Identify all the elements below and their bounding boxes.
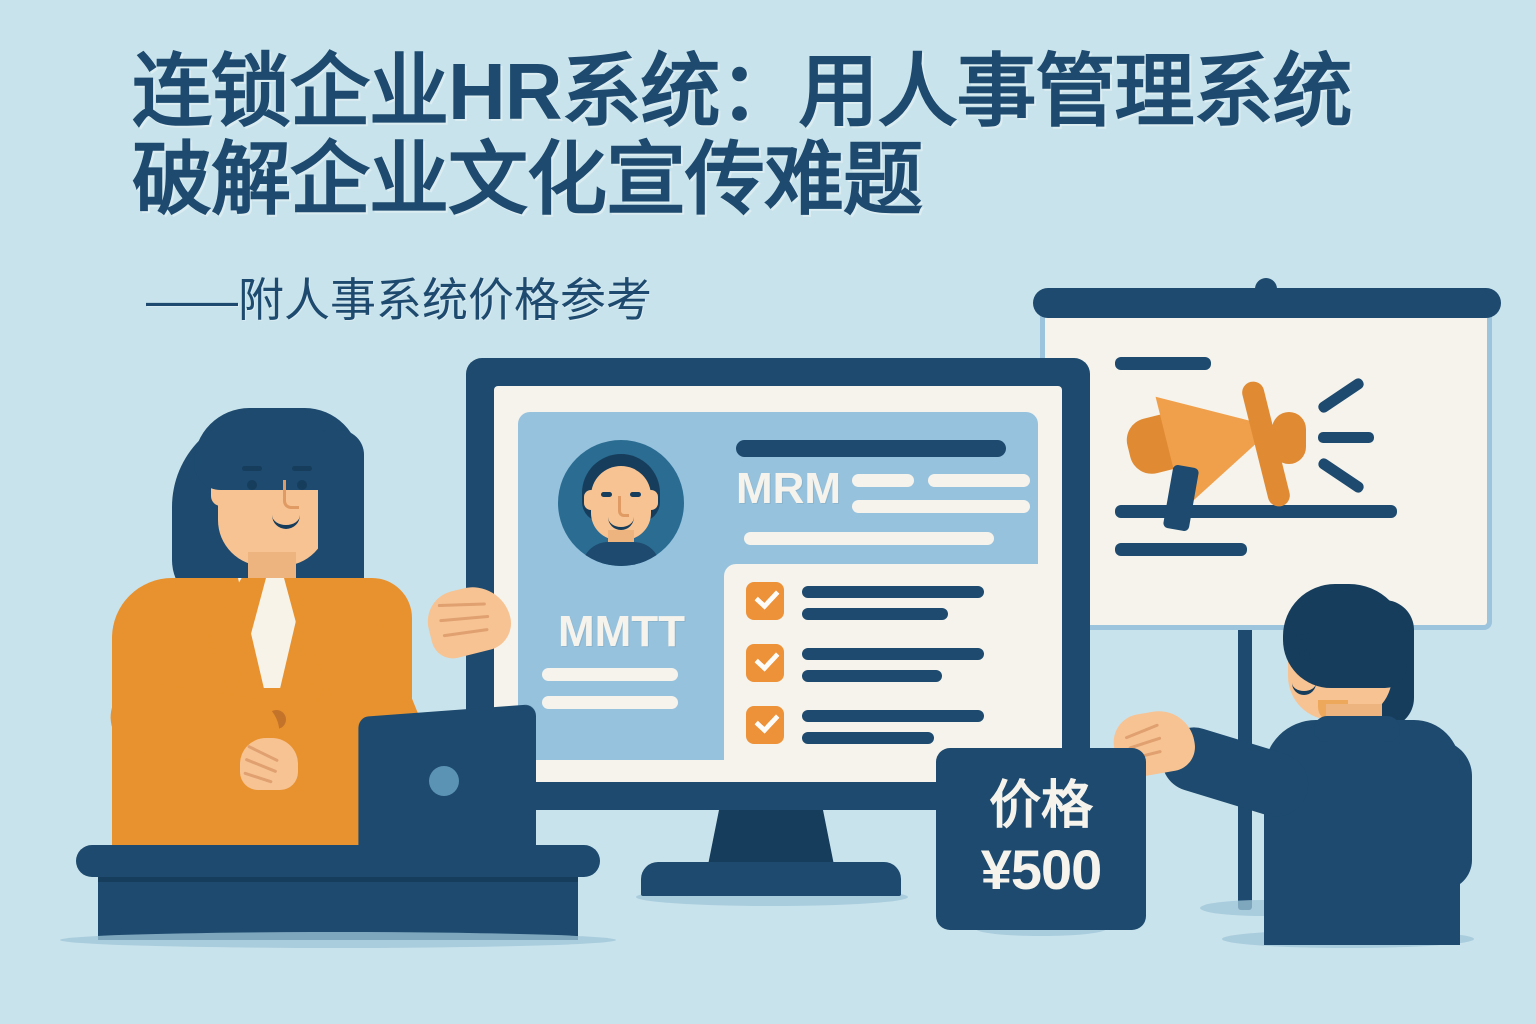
record-title-label: MRM: [736, 464, 841, 514]
hr-profile-card[interactable]: MMTT MRM: [518, 412, 1038, 760]
checkbox-3[interactable]: [746, 706, 784, 744]
monitor-stand-neck: [707, 806, 835, 870]
laptop-logo-icon: [429, 766, 459, 796]
woman-nose: [283, 480, 299, 509]
check-icon: [754, 708, 779, 734]
board-text-line-1: [1115, 357, 1211, 370]
woman-eyebrow-left: [242, 466, 262, 471]
woman-finger-line-1: [438, 602, 486, 607]
board-text-line-3: [1115, 543, 1247, 556]
price-label: 价格: [989, 775, 1093, 837]
profile-detail-bar-2: [542, 696, 678, 709]
record-field-bar-1: [852, 474, 914, 487]
avatar: [558, 440, 684, 566]
checkbox-2[interactable]: [746, 644, 784, 682]
avatar-nose: [618, 496, 629, 517]
woman-finger-line-2: [439, 615, 489, 622]
man-collar: [1314, 716, 1400, 742]
woman-hand-on-laptop: [240, 738, 298, 790]
desk-shadow: [60, 932, 616, 948]
page-subtitle: ——附人事系统价格参考: [146, 272, 652, 328]
record-header-bar: [736, 440, 1006, 457]
price-value: ¥500: [981, 837, 1102, 903]
desk-top: [76, 845, 600, 877]
check-icon: [754, 584, 779, 610]
woman-typing-finger-3: [243, 771, 272, 783]
checklist-text-1a: [802, 586, 984, 598]
check-icon: [754, 646, 779, 672]
poster-canvas: 连锁企业HR系统：用人事管理系统 破解企业文化宣传难题 ——附人事系统价格参考: [0, 0, 1536, 1024]
floor-band: [0, 940, 1536, 1024]
page-title: 连锁企业HR系统：用人事管理系统 破解企业文化宣传难题: [132, 48, 1422, 224]
checklist-text-2b: [802, 670, 942, 682]
checklist-text-1b: [802, 608, 948, 620]
woman-finger-line-3: [443, 628, 489, 637]
profile-detail-bar-1: [542, 668, 678, 681]
woman-eye-left: [247, 480, 257, 490]
status-badge[interactable]: 价格 ¥500: [936, 748, 1146, 930]
monitor-stand-base: [641, 862, 901, 896]
record-field-bar-4: [744, 532, 994, 545]
woman-eyebrow-right: [292, 466, 312, 471]
avatar-eye-right: [630, 492, 641, 497]
megaphone-mouthpiece: [1272, 412, 1306, 464]
avatar-eye-left: [601, 492, 612, 497]
checkbox-1[interactable]: [746, 582, 784, 620]
man-eye: [1299, 650, 1310, 661]
desk-front: [98, 874, 578, 940]
checklist-panel: [724, 564, 1038, 760]
checklist-text-3a: [802, 710, 984, 722]
avatar-shoulders: [582, 542, 660, 566]
record-field-bar-3: [852, 500, 1030, 513]
title-line-2: 破解企业文化宣传难题: [132, 136, 1422, 224]
man-finger-line-1: [1125, 723, 1160, 739]
record-field-bar-2: [928, 474, 1030, 487]
board-pull-knob: [1255, 278, 1277, 296]
man-torso: [1264, 720, 1460, 945]
title-line-1: 连锁企业HR系统：用人事管理系统: [132, 48, 1422, 136]
profile-name-label: MMTT: [558, 607, 685, 657]
board-text-line-2: [1115, 505, 1397, 518]
checklist-text-3b: [802, 732, 934, 744]
checklist-text-2a: [802, 648, 984, 660]
sound-wave-line-2: [1318, 432, 1374, 443]
